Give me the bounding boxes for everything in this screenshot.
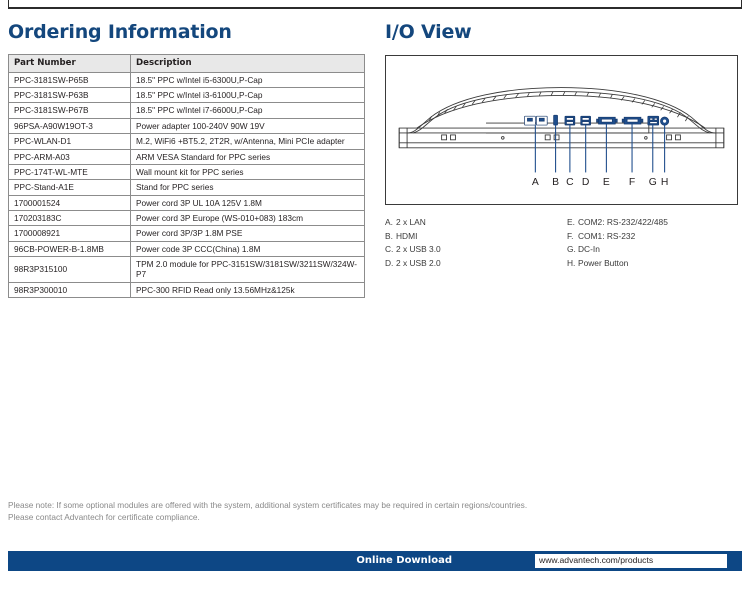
cell-part-number: PPC-Stand-A1E bbox=[9, 180, 131, 195]
note-line-1: Please note: If some optional modules ar… bbox=[8, 500, 527, 512]
cell-part-number: 98R3P315100 bbox=[9, 257, 131, 283]
cell-description: Power cord 3P/3P 1.8M PSE bbox=[131, 226, 365, 241]
table-row: 98R3P315100 TPM 2.0 module for PPC-3151S… bbox=[9, 257, 365, 283]
cell-description: 18.5" PPC w/Intel i7-6600U,P-Cap bbox=[131, 103, 365, 118]
io-legend-column-left: A.2 x LAN B.HDMI C.2 x USB 3.0 D.2 x USB… bbox=[385, 216, 441, 270]
table-row: PPC-WLAN-D1 M.2, WiFi6 +BT5.2, 2T2R, w/A… bbox=[9, 134, 365, 149]
ordering-information-heading: Ordering Information bbox=[8, 21, 232, 43]
table-row: PPC-3181SW-P67B 18.5" PPC w/Intel i7-660… bbox=[9, 103, 365, 118]
column-header-part-number: Part Number bbox=[9, 55, 131, 73]
cell-part-number: PPC-3181SW-P67B bbox=[9, 103, 131, 118]
footer-band: Online Download www.advantech.com/produc… bbox=[8, 551, 742, 571]
cell-part-number: PPC-3181SW-P65B bbox=[9, 72, 131, 87]
cell-description: Wall mount kit for PPC series bbox=[131, 164, 365, 179]
cell-description: Power cord 3P Europe (WS-010+083) 183cm bbox=[131, 210, 365, 225]
io-legend-item-g: G.DC-In bbox=[567, 243, 668, 257]
table-row: 1700008921 Power cord 3P/3P 1.8M PSE bbox=[9, 226, 365, 241]
table-row: 1700001524 Power cord 3P UL 10A 125V 1.8… bbox=[9, 195, 365, 210]
cell-description: PPC-300 RFID Read only 13.56MHz&125k bbox=[131, 282, 365, 297]
cell-description: 18.5" PPC w/Intel i5-6300U,P-Cap bbox=[131, 72, 365, 87]
io-legend-item-h: H.Power Button bbox=[567, 257, 668, 271]
cell-description: Power cord 3P UL 10A 125V 1.8M bbox=[131, 195, 365, 210]
cell-part-number: PPC-ARM-A03 bbox=[9, 149, 131, 164]
cell-part-number: PPC-174T-WL-MTE bbox=[9, 164, 131, 179]
io-legend-text: 2 x LAN bbox=[396, 217, 426, 227]
io-legend-text: 2 x USB 3.0 bbox=[396, 244, 441, 254]
cell-description: M.2, WiFi6 +BT5.2, 2T2R, w/Antenna, Mini… bbox=[131, 134, 365, 149]
io-legend-key: C. bbox=[385, 243, 396, 257]
io-legend-item-a: A.2 x LAN bbox=[385, 216, 441, 230]
table-row: 98R3P300010 PPC-300 RFID Read only 13.56… bbox=[9, 282, 365, 297]
cell-part-number: 170203183C bbox=[9, 210, 131, 225]
io-legend-item-c: C.2 x USB 3.0 bbox=[385, 243, 441, 257]
io-legend-key: G. bbox=[567, 243, 578, 257]
io-legend-item-d: D.2 x USB 2.0 bbox=[385, 257, 441, 271]
io-legend-item-f: F.COM1: RS-232 bbox=[567, 230, 668, 244]
table-row: PPC-3181SW-P65B 18.5" PPC w/Intel i5-630… bbox=[9, 72, 365, 87]
io-view-heading: I/O View bbox=[385, 21, 472, 43]
io-callout-letter-group: A B C D E F G H bbox=[532, 177, 668, 188]
cell-description: TPM 2.0 module for PPC-3151SW/3181SW/321… bbox=[131, 257, 365, 283]
io-callout-letter: D bbox=[582, 177, 589, 188]
table-row: 170203183C Power cord 3P Europe (WS-010+… bbox=[9, 210, 365, 225]
io-panel-drawing: A B C D E F G H bbox=[386, 56, 737, 204]
io-legend-key: D. bbox=[385, 257, 396, 271]
io-callout-letter: E bbox=[603, 177, 610, 188]
io-legend-item-b: B.HDMI bbox=[385, 230, 441, 244]
cell-part-number: 1700001524 bbox=[9, 195, 131, 210]
online-download-label: Online Download bbox=[356, 555, 452, 566]
cell-description: ARM VESA Standard for PPC series bbox=[131, 149, 365, 164]
cell-description: Power adapter 100-240V 90W 19V bbox=[131, 118, 365, 133]
io-legend-item-e: E.COM2: RS-232/422/485 bbox=[567, 216, 668, 230]
cell-part-number: PPC-3181SW-P63B bbox=[9, 88, 131, 103]
io-callout-letter: B bbox=[552, 177, 559, 188]
io-legend-key: F. bbox=[567, 230, 578, 244]
cell-description: Power code 3P CCC(China) 1.8M bbox=[131, 241, 365, 256]
cell-part-number: 96CB-POWER-B-1.8MB bbox=[9, 241, 131, 256]
cell-part-number: 1700008921 bbox=[9, 226, 131, 241]
online-download-url[interactable]: www.advantech.com/products bbox=[539, 555, 653, 565]
io-legend-key: H. bbox=[567, 257, 578, 271]
io-legend-text: HDMI bbox=[396, 231, 417, 241]
table-row: PPC-ARM-A03 ARM VESA Standard for PPC se… bbox=[9, 149, 365, 164]
cell-description: 18.5" PPC w/Intel i3-6100U,P-Cap bbox=[131, 88, 365, 103]
io-legend-key: A. bbox=[385, 216, 396, 230]
page-top-rule bbox=[8, 0, 742, 9]
table-row: PPC-Stand-A1E Stand for PPC series bbox=[9, 180, 365, 195]
cell-part-number: 96PSA-A90W19OT-3 bbox=[9, 118, 131, 133]
cell-description: Stand for PPC series bbox=[131, 180, 365, 195]
io-legend-text: DC-In bbox=[578, 244, 600, 254]
io-legend-text: Power Button bbox=[578, 258, 628, 268]
cell-part-number: PPC-WLAN-D1 bbox=[9, 134, 131, 149]
table-row: PPC-3181SW-P63B 18.5" PPC w/Intel i3-610… bbox=[9, 88, 365, 103]
io-legend-text: COM1: RS-232 bbox=[578, 231, 635, 241]
io-view-diagram-panel: A B C D E F G H bbox=[385, 55, 738, 205]
io-callout-letter: C bbox=[566, 177, 574, 188]
io-callout-letter: F bbox=[629, 177, 635, 188]
cell-part-number: 98R3P300010 bbox=[9, 282, 131, 297]
io-callout-letter: G bbox=[649, 177, 657, 188]
table-row: 96PSA-A90W19OT-3 Power adapter 100-240V … bbox=[9, 118, 365, 133]
ordering-information-table: Part Number Description PPC-3181SW-P65B … bbox=[8, 54, 365, 298]
table-row: PPC-174T-WL-MTE Wall mount kit for PPC s… bbox=[9, 164, 365, 179]
io-legend-text: COM2: RS-232/422/485 bbox=[578, 217, 668, 227]
table-row: 96CB-POWER-B-1.8MB Power code 3P CCC(Chi… bbox=[9, 241, 365, 256]
column-header-description: Description bbox=[131, 55, 365, 73]
online-download-url-box[interactable]: www.advantech.com/products bbox=[535, 554, 727, 568]
io-legend-text: 2 x USB 2.0 bbox=[396, 258, 441, 268]
page-note: Please note: If some optional modules ar… bbox=[8, 500, 527, 523]
io-legend-key: B. bbox=[385, 230, 396, 244]
io-callout-letter: H bbox=[661, 177, 668, 188]
table-header-row: Part Number Description bbox=[9, 55, 365, 73]
io-legend-column-right: E.COM2: RS-232/422/485 F.COM1: RS-232 G.… bbox=[567, 216, 668, 270]
io-legend-key: E. bbox=[567, 216, 578, 230]
note-line-2: Please contact Advantech for certificate… bbox=[8, 512, 527, 524]
io-callout-letter: A bbox=[532, 177, 539, 188]
